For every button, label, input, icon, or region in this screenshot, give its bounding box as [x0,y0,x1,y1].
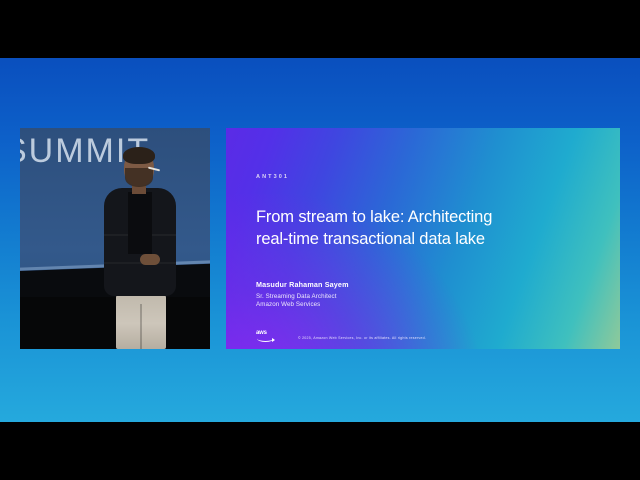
letterbox-bottom [0,422,640,480]
speaker-shirt [128,192,152,254]
speaker-organization: Amazon Web Services [256,301,349,310]
speaker-camera-feed: SUMMIT [20,128,210,349]
speaker-hands [140,254,160,265]
aws-smile-mark [257,335,274,342]
video-player-frame: SUMMIT ANT301 [0,0,640,480]
broadcast-stage-background: SUMMIT ANT301 [0,58,640,422]
copyright-notice: © 2025, Amazon Web Services, Inc. or its… [298,336,426,340]
presentation-slide: ANT301 From stream to lake: Architecting… [226,128,620,349]
slide-title: From stream to lake: Architecting real-t… [256,206,586,251]
letterbox-top [0,0,640,58]
speaker-beard [125,168,153,187]
speaker-hair [123,147,155,164]
slide-title-line-2: real-time transactional data lake [256,228,586,250]
speaker-pants-seam [140,304,142,349]
speaker-details: Masudur Rahaman Sayem Sr. Streaming Data… [256,280,349,310]
speaker-name: Masudur Rahaman Sayem [256,280,349,289]
speaker-role: Sr. Streaming Data Architect [256,293,349,302]
slide-footer: aws © 2025, Amazon Web Services, Inc. or… [226,319,620,349]
slide-title-line-1: From stream to lake: Architecting [256,206,586,228]
speaker-figure [96,142,188,349]
session-code: ANT301 [256,174,289,180]
aws-logo-icon: aws [256,330,276,343]
